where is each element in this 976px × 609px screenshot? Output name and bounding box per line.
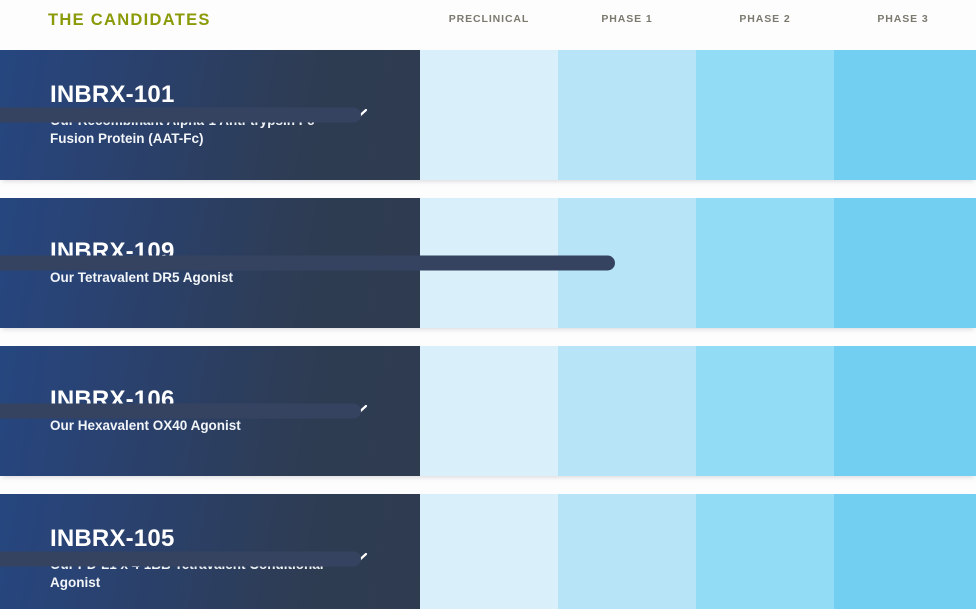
pipeline-header: THE CANDIDATES PRECLINICALPHASE 1PHASE 2…	[0, 0, 976, 50]
phase-column-4	[834, 50, 976, 180]
phase-header-3: PHASE 2	[696, 13, 834, 25]
phase-header-4: PHASE 3	[834, 13, 972, 25]
row-divider	[0, 180, 976, 198]
phase-column-4	[834, 346, 976, 476]
phase-header-row: PRECLINICALPHASE 1PHASE 2PHASE 3	[420, 0, 976, 50]
phase-header-1: PRECLINICAL	[420, 13, 558, 25]
phase-column-1	[420, 50, 558, 180]
phase-column-3	[696, 494, 834, 609]
progress-bar	[0, 256, 615, 271]
phase-column-4	[834, 198, 976, 328]
progress-bar	[0, 552, 361, 567]
candidate-row[interactable]: INBRX-101Our Recombinant Alpha-1 Anti-tr…	[0, 50, 976, 180]
candidate-name: INBRX-101	[50, 82, 350, 109]
phase-column-4	[834, 494, 976, 609]
row-divider	[0, 328, 976, 346]
phase-column-1	[420, 346, 558, 476]
candidate-name: INBRX-105	[50, 526, 350, 553]
row-divider	[0, 476, 976, 494]
phase-column-1	[420, 494, 558, 609]
progress-bar	[0, 404, 361, 419]
page-title: THE CANDIDATES	[48, 11, 211, 30]
phase-column-2	[558, 50, 696, 180]
progress-bar	[0, 108, 361, 123]
pipeline-chart: THE CANDIDATES PRECLINICALPHASE 1PHASE 2…	[0, 0, 976, 609]
candidate-description: Our Hexavalent OX40 Agonist	[50, 417, 350, 435]
candidate-description: Our Tetravalent DR5 Agonist	[50, 269, 350, 287]
phase-track	[420, 50, 976, 180]
phase-track	[420, 346, 976, 476]
candidate-row[interactable]: INBRX-109Our Tetravalent DR5 Agonist	[0, 198, 976, 328]
candidate-rows: INBRX-101Our Recombinant Alpha-1 Anti-tr…	[0, 50, 976, 609]
phase-column-3	[696, 198, 834, 328]
phase-column-2	[558, 346, 696, 476]
candidate-row[interactable]: INBRX-106Our Hexavalent OX40 Agonist	[0, 346, 976, 476]
phase-column-3	[696, 50, 834, 180]
phase-column-2	[558, 494, 696, 609]
phase-column-3	[696, 346, 834, 476]
phase-track	[420, 494, 976, 609]
phase-header-2: PHASE 1	[558, 13, 696, 25]
candidate-row[interactable]: INBRX-105Our PD-L1 x 4-1BB Tetravalent C…	[0, 494, 976, 609]
